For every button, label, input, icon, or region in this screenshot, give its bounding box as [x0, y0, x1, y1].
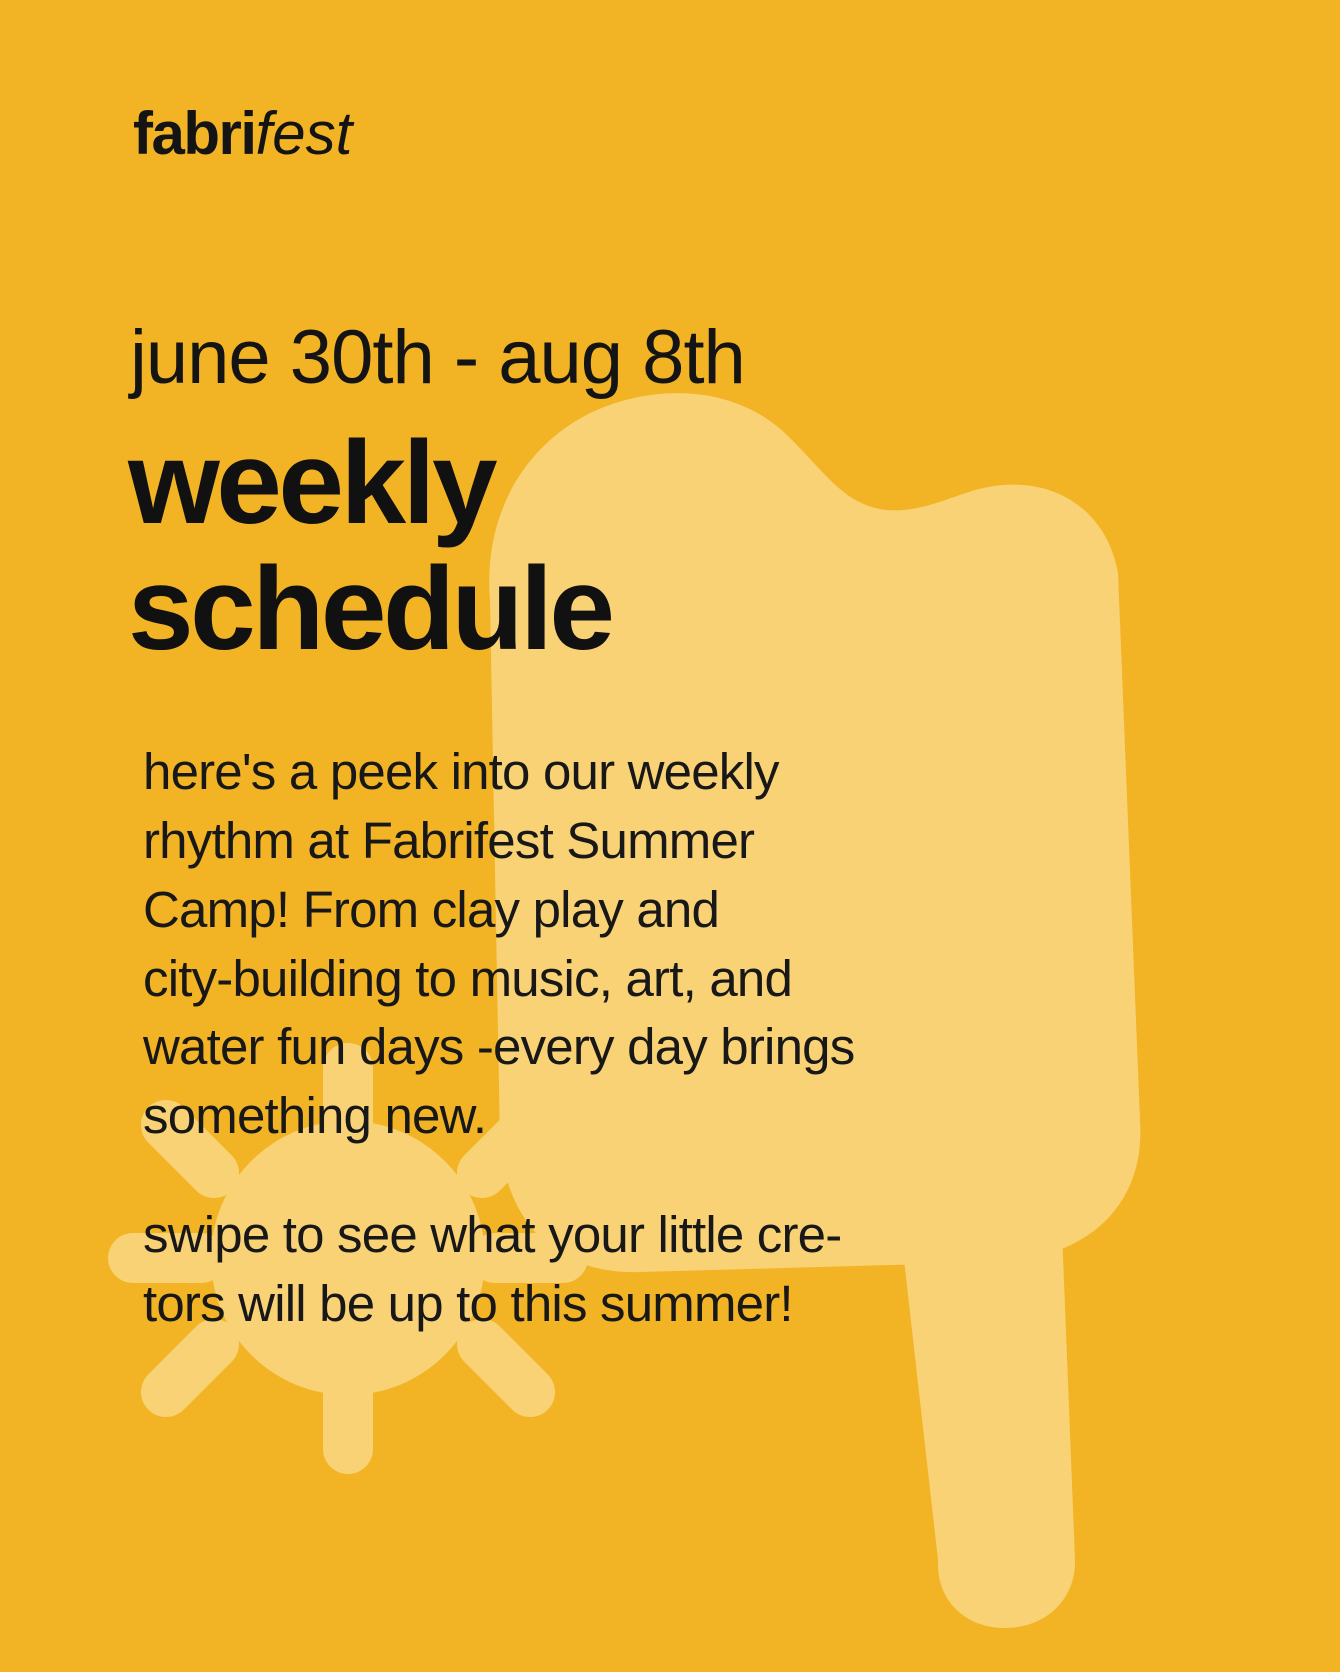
paragraph-line: city-building to music, art, and	[143, 945, 973, 1014]
brand-logo-italic: fest	[256, 100, 353, 167]
paragraph-line: water fun days -every day brings	[143, 1013, 973, 1082]
paragraph-line: something new.	[143, 1082, 973, 1151]
brand-logo-bold: fabri	[133, 100, 256, 167]
paragraph-cta: swipe to see what your little cre- tors …	[143, 1201, 973, 1339]
paragraph-intro: here's a peek into our weekly rhythm at …	[143, 738, 973, 1151]
paragraph-line: swipe to see what your little cre-	[143, 1201, 973, 1270]
brand-logo: fabrifest	[133, 104, 352, 164]
page-title: weekly schedule	[128, 420, 612, 673]
date-range: june 30th - aug 8th	[130, 320, 745, 396]
page-title-line-1: weekly	[128, 420, 612, 546]
paragraph-line: here's a peek into our weekly	[143, 738, 973, 807]
paragraph-line: Camp! From clay play and	[143, 876, 973, 945]
body-copy: here's a peek into our weekly rhythm at …	[143, 738, 973, 1339]
paragraph-spacer	[143, 1151, 973, 1201]
paragraph-line: tors will be up to this summer!	[143, 1270, 973, 1339]
poster-canvas: fabrifest june 30th - aug 8th weekly sch…	[0, 0, 1340, 1672]
paragraph-line: rhythm at Fabrifest Summer	[143, 807, 973, 876]
page-title-line-2: schedule	[128, 546, 612, 672]
